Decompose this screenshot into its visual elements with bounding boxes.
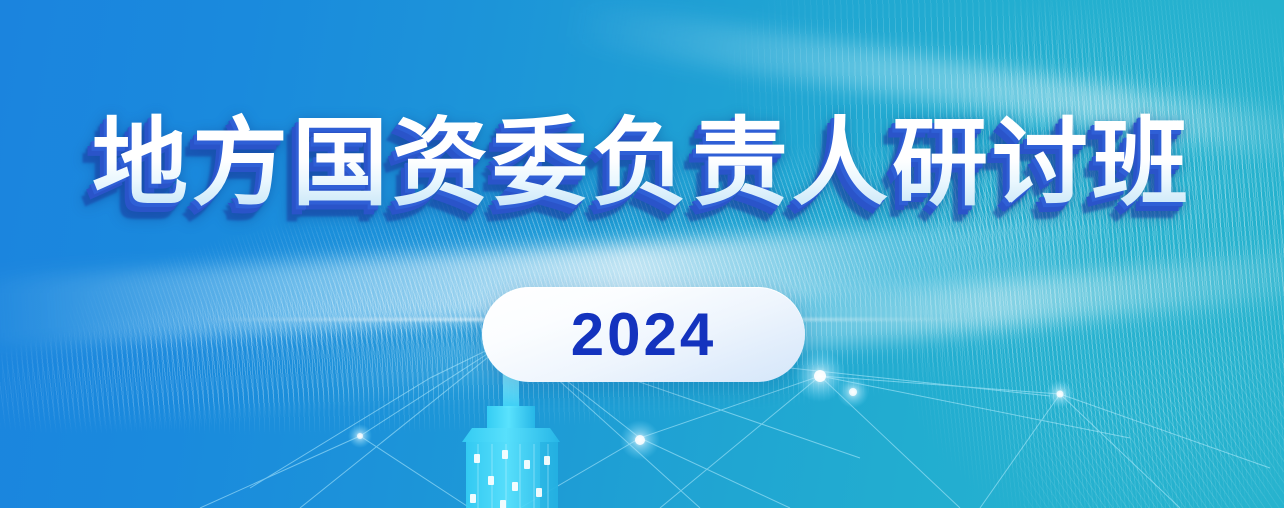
year-badge: 2024: [482, 287, 805, 382]
headline-container: 地方国资委负责人研讨班: [0, 108, 1284, 219]
page-title: 地方国资委负责人研讨班: [92, 108, 1192, 219]
event-banner: 地方国资委负责人研讨班 2024: [0, 0, 1284, 508]
year-badge-label: 2024: [571, 305, 716, 365]
